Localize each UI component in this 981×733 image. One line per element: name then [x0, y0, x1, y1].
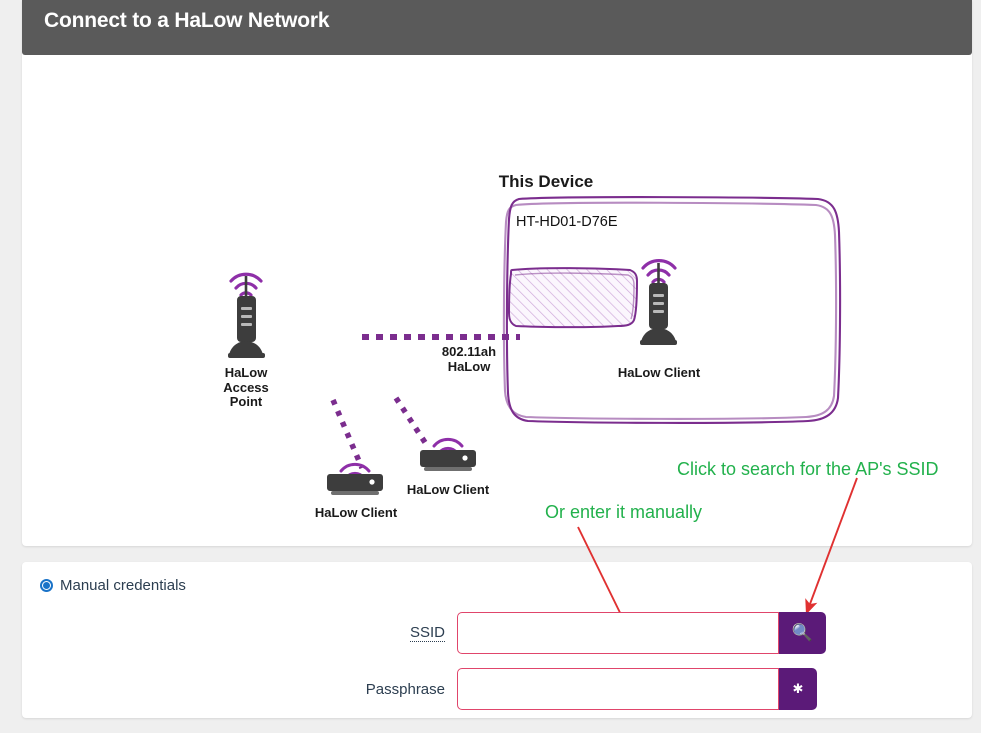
device-name-label: HT-HD01-D76E [516, 214, 716, 230]
annotation-manual-hint: Or enter it manually [545, 502, 702, 523]
ssid-label: SSID [410, 624, 445, 642]
passphrase-input[interactable] [457, 668, 779, 710]
asterisk-icon: ✱ [793, 681, 804, 697]
ssid-field-row: SSID 🔍 [340, 612, 826, 654]
manual-credentials-radio-row[interactable]: Manual credentials [40, 577, 186, 594]
ssid-input[interactable] [457, 612, 779, 654]
search-icon: 🔍 [792, 623, 813, 643]
passphrase-field-row: Passphrase ✱ [340, 668, 817, 710]
client-inside-label: HaLow Client [600, 366, 718, 381]
client-1-label: HaLow Client [300, 506, 412, 521]
access-point-label: HaLow Access Point [196, 366, 296, 410]
this-device-label: This Device [474, 172, 618, 191]
halow-link-label: 802.11ah HaLow [412, 345, 526, 374]
manual-credentials-label: Manual credentials [60, 577, 186, 594]
page-title: Connect to a HaLow Network [44, 9, 329, 33]
page-root: Connect to a HaLow Network [0, 0, 981, 733]
passphrase-input-group: ✱ [457, 668, 817, 710]
radio-button-manual-credentials[interactable] [40, 579, 53, 592]
annotation-search-hint: Click to search for the AP's SSID [677, 459, 939, 480]
passphrase-label: Passphrase [340, 681, 445, 698]
ssid-search-button[interactable]: 🔍 [779, 612, 826, 654]
radio-dot [43, 582, 50, 589]
client-2-label: HaLow Client [392, 483, 504, 498]
ssid-input-group: 🔍 [457, 612, 826, 654]
passphrase-reveal-button[interactable]: ✱ [779, 668, 817, 710]
ssid-label-wrap: SSID [340, 624, 445, 642]
